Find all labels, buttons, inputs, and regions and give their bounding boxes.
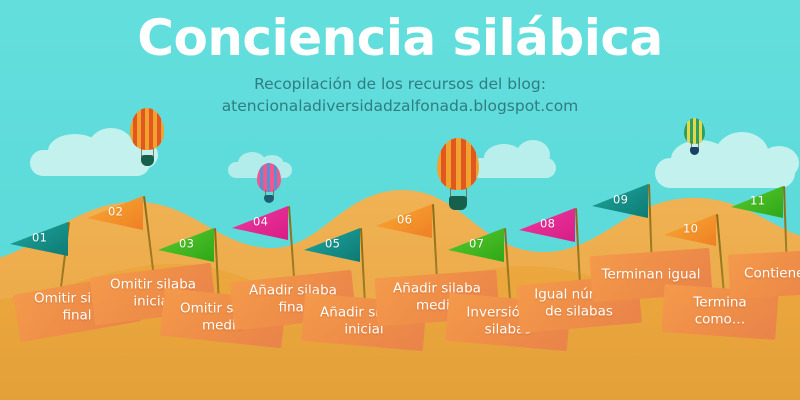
flag-number: 05: [325, 236, 340, 250]
flag-pennant: 03: [158, 228, 214, 262]
flag-number: 01: [32, 230, 47, 244]
flag-pennant: 07: [448, 228, 504, 262]
page-subtitle: Recopilación de los recursos del blog: a…: [0, 65, 800, 118]
subtitle-line-2: atencionaladiversidadzalfonada.blogspot.…: [0, 95, 800, 117]
flag-pennant: 09: [592, 184, 648, 218]
page-title: Conciencia silábica: [0, 0, 800, 65]
flag-pennant: 10: [664, 214, 716, 246]
balloon-envelope: [684, 118, 705, 144]
flag-pennant: 04: [232, 206, 288, 240]
flag-number: 03: [179, 236, 194, 250]
balloon-envelope: [257, 163, 281, 192]
header: Conciencia silábica Recopilación de los …: [0, 0, 800, 117]
subtitle-line-1: Recopilación de los recursos del blog:: [0, 73, 800, 95]
flag-pennant: 06: [376, 204, 432, 238]
flag-number: 10: [683, 221, 698, 235]
flag-number: 06: [397, 212, 412, 226]
ribbon-11[interactable]: Contiene…: [726, 250, 800, 298]
balloon-envelope: [437, 138, 479, 190]
flag-number: 02: [108, 204, 123, 218]
flag-number: 08: [540, 216, 555, 230]
ribbon-label: Contiene…: [727, 265, 800, 282]
flag-pennant: 01: [10, 222, 68, 256]
flag-pennant: 08: [519, 208, 575, 242]
infographic-canvas: Conciencia silábica Recopilación de los …: [0, 0, 800, 400]
flag-pennant: 11: [731, 186, 783, 218]
flag-pennant: 05: [304, 228, 360, 262]
flag-number: 07: [469, 236, 484, 250]
flag-number: 09: [613, 192, 628, 206]
ribbon-label: Terminan igual: [590, 266, 712, 283]
flag-number: 04: [253, 214, 268, 228]
balloon-basket: [449, 196, 467, 210]
flag-pennant: 02: [87, 196, 143, 230]
ribbon-label: Termina como…: [662, 295, 778, 330]
balloon-basket: [141, 155, 154, 166]
flag-number: 11: [750, 193, 765, 207]
